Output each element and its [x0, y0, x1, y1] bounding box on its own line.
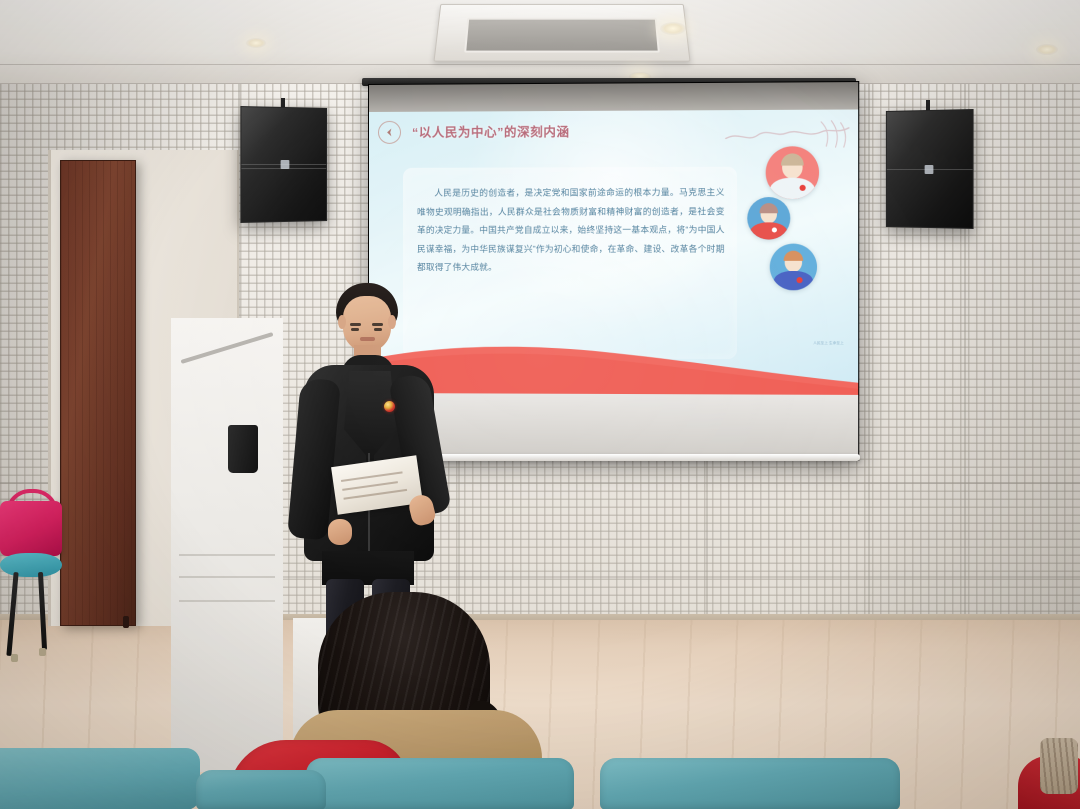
wall-speaker-left: [240, 106, 327, 223]
screen-blank-area-top: [369, 82, 858, 112]
ceiling: [0, 0, 1080, 86]
audience-scarf: [1040, 738, 1078, 794]
slide-header: “以人民为中心”的深刻内涵: [369, 109, 858, 152]
air-conditioner-unit: [433, 4, 690, 62]
side-chair-seat: [0, 553, 62, 577]
presenter-hand-left: [328, 519, 352, 545]
downlight-icon: [1036, 44, 1058, 55]
downlight-icon: [246, 38, 266, 48]
avatar-person-blue: [747, 197, 790, 240]
teal-sofa-seating: [600, 758, 900, 809]
wall-speaker-right: [886, 109, 974, 229]
avatar-person-blue-2: [770, 244, 817, 291]
stairwell: [171, 318, 283, 772]
waste-bin: [228, 425, 258, 473]
photo-scene: “以人民为中心”的深刻内涵 人民是历史的创造者，是决定党和国家前途命运的根本力量…: [0, 0, 1080, 809]
teal-sofa-seating: [0, 748, 200, 809]
chevron-left-icon[interactable]: [378, 120, 401, 143]
slide-title: “以人民为中心”的深刻内涵: [412, 122, 570, 141]
downlight-icon: [660, 22, 686, 35]
presenter-face: [343, 296, 391, 352]
teal-sofa-seating: [196, 770, 326, 809]
door-handle-icon[interactable]: [123, 616, 129, 628]
slide-body-text: 人民是历史的创造者，是决定党和国家前途命运的根本力量。马克思主义唯物史观明确指出…: [417, 183, 725, 277]
air-conditioner-grille: [464, 18, 660, 53]
door[interactable]: [60, 160, 136, 626]
teal-sofa-seating: [306, 758, 574, 809]
party-emblem-badge: [384, 401, 395, 412]
avatar-person-red: [766, 146, 819, 199]
pink-handbag: [0, 501, 62, 556]
